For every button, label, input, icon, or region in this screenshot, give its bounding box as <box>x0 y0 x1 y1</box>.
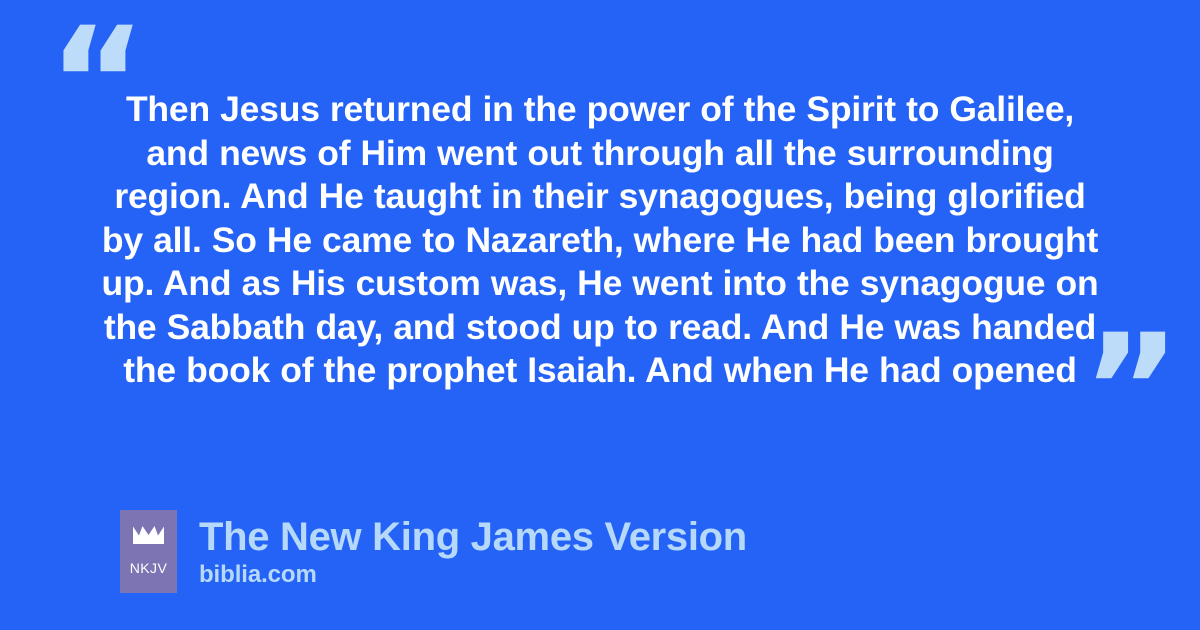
brand-site-url: biblia.com <box>199 561 747 589</box>
crown-icon <box>133 525 164 544</box>
brand-text-group: The New King James Version biblia.com <box>199 510 747 589</box>
quote-text-container: Then Jesus returned in the power of the … <box>100 88 1100 393</box>
brand-abbreviation: NKJV <box>130 561 167 575</box>
brand-title: The New King James Version <box>199 515 747 559</box>
brand-footer: NKJV The New King James Version biblia.c… <box>120 510 747 593</box>
closing-quote-icon: ” <box>1082 315 1181 465</box>
brand-logo: NKJV <box>120 510 177 593</box>
quote-card: “ Then Jesus returned in the power of th… <box>0 0 1200 630</box>
quote-text: Then Jesus returned in the power of the … <box>100 88 1100 393</box>
